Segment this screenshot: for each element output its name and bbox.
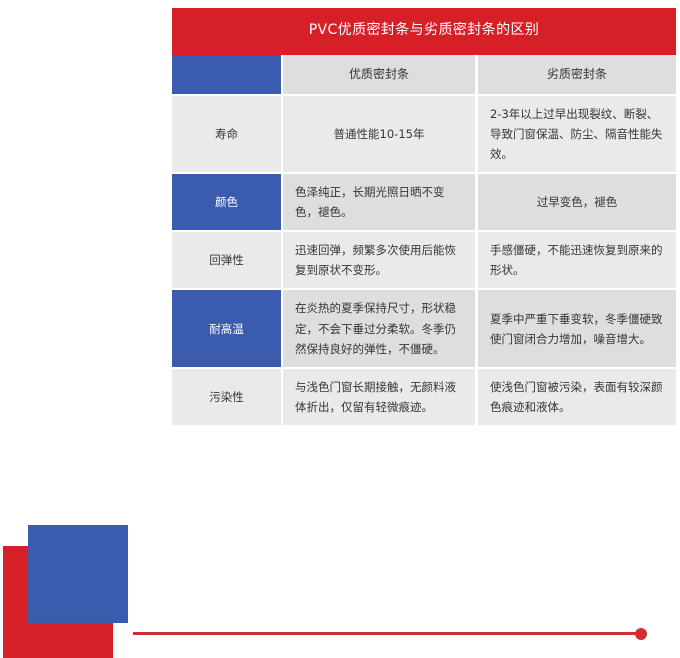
decorative-end-dot	[635, 628, 647, 640]
row-good-heat-resistance: 在炎热的夏季保持尺寸，形状稳定，不会下垂过分柔软。冬季仍然保持良好的弹性，不僵硬…	[283, 290, 478, 368]
row-good-resilience: 迅速回弹，频繁多次使用后能恢复到原状不变形。	[283, 232, 478, 290]
row-label-color: 颜色	[172, 174, 283, 232]
table-row: 污染性 与浅色门窗长期接触，无颜料液体折出，仅留有轻微痕迹。 使浅色门窗被污染，…	[172, 369, 676, 427]
row-label-staining: 污染性	[172, 369, 283, 427]
table-row: 耐高温 在炎热的夏季保持尺寸，形状稳定，不会下垂过分柔软。冬季仍然保持良好的弹性…	[172, 290, 676, 368]
row-good-staining: 与浅色门窗长期接触，无颜料液体折出，仅留有轻微痕迹。	[283, 369, 478, 427]
table-row: 回弹性 迅速回弹，频繁多次使用后能恢复到原状不变形。 手感僵硬，不能迅速恢复到原…	[172, 232, 676, 290]
decorative-horizontal-rule	[133, 632, 641, 635]
row-label-resilience: 回弹性	[172, 232, 283, 290]
row-bad-resilience: 手感僵硬，不能迅速恢复到原来的形状。	[478, 232, 676, 290]
row-bad-heat-resistance: 夏季中严重下垂变软，冬季僵硬致使门窗闭合力增加，噪音增大。	[478, 290, 676, 368]
row-label-heat-resistance: 耐高温	[172, 290, 283, 368]
header-cell-good: 优质密封条	[283, 55, 478, 96]
table-header-row: 优质密封条 劣质密封条	[172, 55, 676, 96]
row-good-color: 色泽纯正，长期光照日晒不变色，褪色。	[283, 174, 478, 232]
comparison-table: PVC优质密封条与劣质密封条的区别 优质密封条 劣质密封条 寿命 普通性能10-…	[172, 8, 676, 427]
decorative-blue-square	[28, 525, 128, 623]
row-label-lifespan: 寿命	[172, 96, 283, 174]
table-body: 优质密封条 劣质密封条 寿命 普通性能10-15年 2-3年以上过早出现裂纹、断…	[172, 55, 676, 428]
row-bad-staining: 使浅色门窗被污染，表面有较深颜色痕迹和液体。	[478, 369, 676, 427]
row-bad-color: 过早变色，褪色	[478, 174, 676, 232]
header-cell-bad: 劣质密封条	[478, 55, 676, 96]
row-good-lifespan: 普通性能10-15年	[283, 96, 478, 174]
header-cell-attribute	[172, 55, 283, 96]
row-bad-lifespan: 2-3年以上过早出现裂纹、断裂、导致门窗保温、防尘、隔音性能失效。	[478, 96, 676, 174]
table-row: 寿命 普通性能10-15年 2-3年以上过早出现裂纹、断裂、导致门窗保温、防尘、…	[172, 96, 676, 174]
table-title: PVC优质密封条与劣质密封条的区别	[172, 8, 676, 55]
table-row: 颜色 色泽纯正，长期光照日晒不变色，褪色。 过早变色，褪色	[172, 174, 676, 232]
